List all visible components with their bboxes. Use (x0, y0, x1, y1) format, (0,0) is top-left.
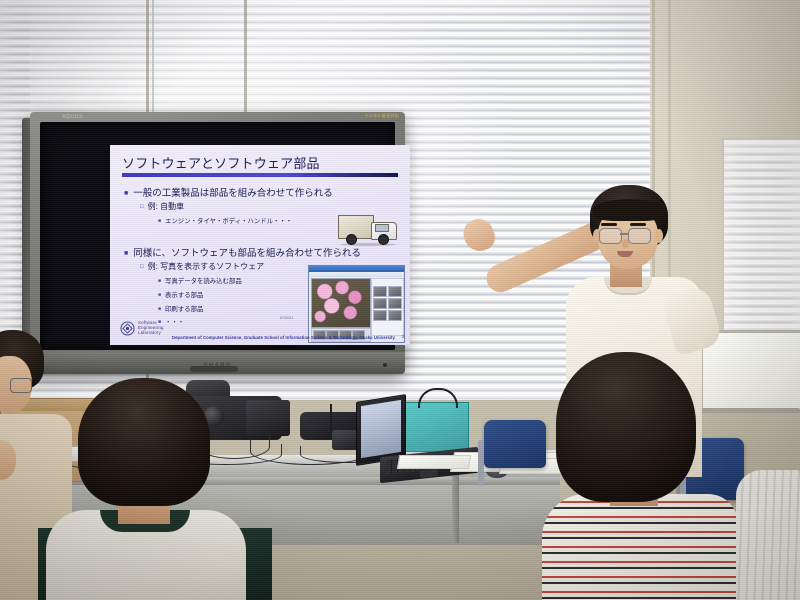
slide-footer-affiliation: Department of Computer Science, Graduate… (172, 335, 395, 340)
slide-bullet-2: 例: 自動車 (140, 201, 184, 212)
audience-right-striped-shirt (542, 494, 738, 600)
power-led (383, 363, 387, 367)
display-panel: ソフトウェアとソフトウェア部品 一般の工業製品は部品を組み合わせて作られる 例:… (40, 122, 395, 350)
sel-logo-text: Software Engineering Laboratory (138, 321, 164, 335)
audience-far-right-shirt (736, 470, 800, 600)
table-leg (452, 473, 459, 543)
app-thumbnail (373, 310, 387, 321)
sel-logo-icon (120, 321, 135, 336)
slide-bullet-8: 印刷する部品 (158, 304, 203, 313)
slide-footer-code: #70021 (280, 315, 293, 320)
presenter-eyebrow (630, 223, 646, 226)
glasses-bridge (620, 233, 628, 235)
aquos-logo: AQUOS (62, 114, 83, 120)
audience-center-hair (78, 378, 210, 506)
chair-back[interactable] (484, 420, 546, 468)
window-mullion-2 (244, 0, 247, 120)
app-thumbnail (388, 310, 402, 321)
slide-page-number: 3 (402, 334, 404, 339)
slide-bullet-3: エンジン・タイヤ・ボディ・ハンドル・・・ (158, 216, 292, 225)
truck-window (375, 224, 389, 232)
cable-vertical (330, 404, 332, 438)
tote-bag (405, 402, 469, 452)
photo-app-screenshot (308, 265, 405, 343)
presenter-eyebrow (601, 223, 617, 226)
blind-cord[interactable] (152, 0, 154, 120)
presenter-ear (655, 229, 663, 243)
glasses-lens-right (628, 228, 651, 244)
slide-bullet-4: 同様に、ソフトウェアも部品を組み合わせて作られる (124, 245, 361, 259)
audience-right-hair (556, 352, 696, 502)
app-thumbnail (373, 298, 387, 309)
glasses-lens-left (599, 228, 622, 244)
slide-title: ソフトウェアとソフトウェア部品 (122, 153, 320, 172)
audience-far-right (736, 470, 800, 600)
sharp-logo: SHARP (203, 363, 231, 369)
presenter-fringe (593, 199, 665, 221)
papers-stack (397, 455, 471, 469)
slide-bullet-5: 例: 写真を表示するソフトウェア (140, 261, 264, 272)
chair-frame (478, 440, 484, 486)
slide-bullet-7: 表示する部品 (158, 290, 203, 299)
app-photo-cherry-blossom (311, 278, 371, 328)
slide-bullet-6: 写真データを読み込む部品 (158, 276, 242, 285)
logo-line-3: Laboratory (138, 331, 164, 336)
app-thumbnail (388, 286, 402, 297)
presentation-slide: ソフトウェアとソフトウェア部品 一般の工業製品は部品を組み合わせて作られる 例:… (110, 145, 410, 345)
app-toolbar (309, 272, 404, 277)
app-thumbnail (373, 286, 387, 297)
slide-title-rule (122, 173, 398, 177)
app-thumbnail (388, 298, 402, 309)
audience-center (38, 378, 288, 600)
laptop-display (361, 400, 401, 458)
photograph-scene: AQUOS デジタル放送対応 ソフトウェアとソフトウェア部品 一般の工業製品は部… (0, 0, 800, 600)
slide-bullet-1: 一般の工業製品は部品を組み合わせて作られる (124, 185, 333, 199)
bezel-sticker: デジタル放送対応 (365, 113, 399, 119)
audience-left-glasses (10, 378, 32, 393)
presenter-nose (622, 239, 629, 248)
